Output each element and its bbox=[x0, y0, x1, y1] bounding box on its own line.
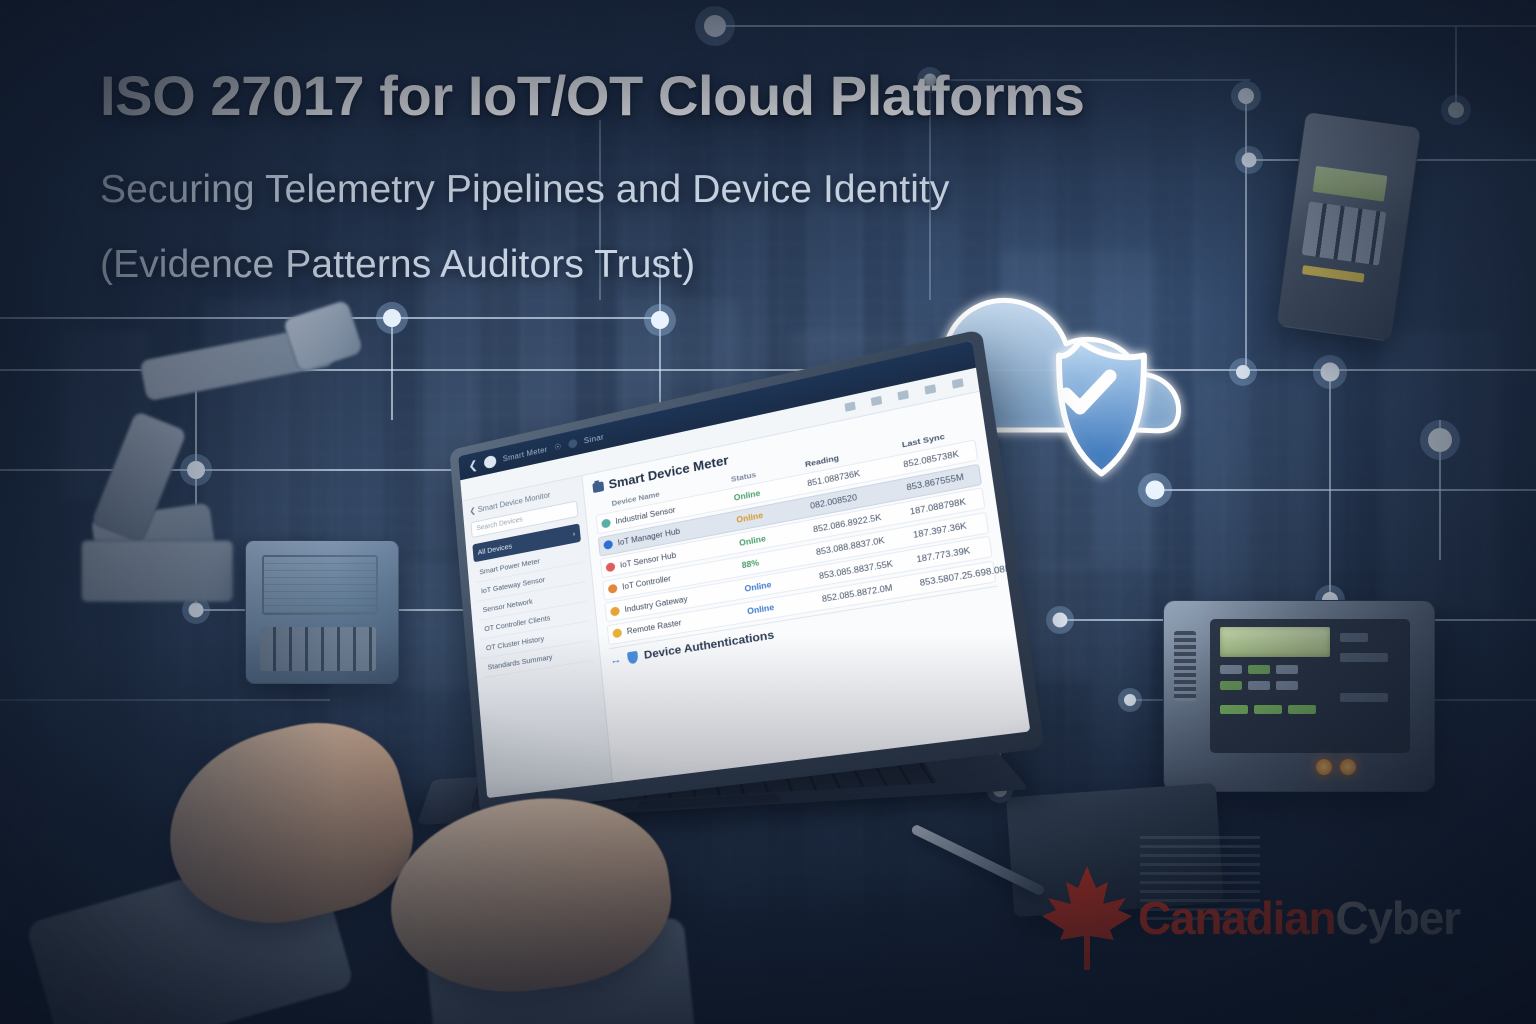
sync-arrows-icon: ↔ bbox=[610, 653, 622, 667]
status-dot-icon bbox=[601, 518, 611, 528]
maple-leaf-icon bbox=[1040, 862, 1134, 974]
home-icon[interactable]: ☉ bbox=[554, 441, 562, 451]
logo-word-cyber: Cyber bbox=[1335, 892, 1459, 944]
shield-icon bbox=[627, 650, 639, 664]
list-icon[interactable] bbox=[924, 384, 936, 395]
status-dot-icon bbox=[605, 561, 615, 571]
logo-word-canadian: Canadian bbox=[1138, 892, 1335, 944]
window-icon[interactable] bbox=[897, 390, 909, 400]
industrial-controller bbox=[1163, 600, 1435, 792]
minimize-icon[interactable] bbox=[844, 401, 855, 411]
subtitle-line-2: (Evidence Patterns Auditors Trust) bbox=[100, 243, 695, 287]
shield-check-icon bbox=[1059, 341, 1144, 473]
browser-tab-label[interactable]: Smart Meter bbox=[502, 445, 548, 463]
brand-logo[interactable]: CanadianCyber bbox=[1040, 862, 1460, 974]
back-arrow-icon[interactable]: ❮ bbox=[468, 458, 478, 473]
banner-image: ❮ Smart Meter ☉ Sinar bbox=[0, 0, 1536, 1024]
status-dot-icon bbox=[610, 606, 620, 616]
page-title-heading: ISO 27017 for IoT/OT Cloud Platforms bbox=[100, 63, 1084, 128]
blue-smart-meter bbox=[245, 540, 399, 684]
account-icon[interactable] bbox=[952, 378, 964, 389]
status-dot-icon bbox=[612, 628, 622, 638]
favicon-icon bbox=[484, 454, 497, 469]
device-meter-icon bbox=[592, 481, 604, 493]
status-dot-icon bbox=[603, 540, 613, 550]
subtitle-line-1: Securing Telemetry Pipelines and Device … bbox=[100, 168, 950, 212]
logo-text: CanadianCyber bbox=[1138, 895, 1460, 941]
download-icon[interactable] bbox=[871, 396, 882, 406]
status-dot-icon bbox=[608, 584, 618, 594]
browser-tab2-label[interactable]: Sinar bbox=[583, 432, 604, 445]
